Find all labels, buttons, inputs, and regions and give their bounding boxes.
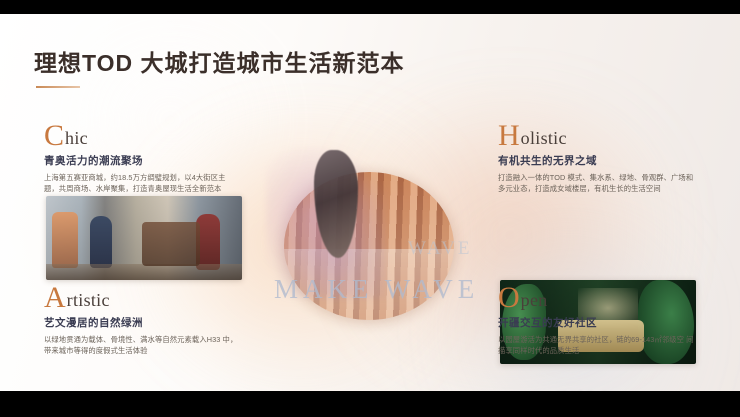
- block-artistic-initial: A: [44, 284, 66, 312]
- slide-canvas: 理想TOD 大城打造城市生活新范本 WAVE MAKE WAVE C hic 青…: [0, 0, 740, 417]
- block-open-heading: O pen: [498, 286, 714, 312]
- photo-chic-person-left: [90, 216, 112, 268]
- block-holistic: H olistic 有机共生的无界之域 打造融入一体的TOD 模式、集水系、绿地…: [498, 124, 714, 194]
- title-underline-rule: [36, 86, 80, 88]
- letterbox-top: [0, 0, 740, 14]
- block-artistic-heading: A rtistic: [44, 286, 260, 312]
- photo-chic: [46, 196, 242, 280]
- block-open-word: pen: [521, 290, 548, 312]
- block-open-initial: O: [498, 284, 520, 312]
- block-chic: C hic 青奥活力的潮流聚场 上海第五赛亚商城，约18.5万方绸璧规划，以4大…: [44, 124, 260, 194]
- block-artistic-subtitle: 艺文漫居的自然绿洲: [44, 315, 260, 330]
- block-chic-body: 上海第五赛亚商城，约18.5万方绸璧规划，以4大街区主题，共周商场、水岸聚集，打…: [44, 172, 240, 194]
- block-chic-heading: C hic: [44, 124, 260, 150]
- block-artistic: A rtistic 艺文漫居的自然绿洲 以绿地贯通为载体、骨境性、满水等自然元素…: [44, 286, 260, 356]
- block-artistic-body: 以绿地贯通为载体、骨境性、满水等自然元素载入H33 中，带来城市等得的度假式生活…: [44, 334, 240, 356]
- block-open: O pen 开疆交互的友好社区 以园屋游活为共通无界共享的社区，链的69-143…: [498, 286, 714, 356]
- photo-chic-floor: [46, 264, 242, 280]
- page-title: 理想TOD 大城打造城市生活新范本: [34, 44, 405, 78]
- block-artistic-word: rtistic: [67, 290, 110, 312]
- central-artwork: WAVE MAKE WAVE: [258, 142, 482, 332]
- block-chic-word: hic: [65, 128, 88, 150]
- block-open-body: 以园屋游活为共通无界共享的社区，链的69-143㎡邻级空 间描享同样时代的品质生…: [498, 334, 694, 356]
- letterbox-bottom: [0, 391, 740, 417]
- photo-chic-person-right: [196, 214, 220, 270]
- artwork-wave-text: MAKE WAVE: [274, 274, 479, 305]
- block-holistic-word: olistic: [521, 128, 567, 150]
- block-holistic-subtitle: 有机共生的无界之域: [498, 153, 714, 168]
- block-chic-subtitle: 青奥活力的潮流聚场: [44, 153, 260, 168]
- artwork-wave-text-secondary: WAVE: [408, 238, 472, 260]
- block-holistic-initial: H: [498, 122, 520, 150]
- block-holistic-heading: H olistic: [498, 124, 714, 150]
- block-open-subtitle: 开疆交互的友好社区: [498, 315, 714, 330]
- block-chic-initial: C: [44, 122, 64, 150]
- block-holistic-body: 打造融入一体的TOD 模式、集水系、绿地、骨观群、广场和多元业态，打造成女域楼层…: [498, 172, 694, 194]
